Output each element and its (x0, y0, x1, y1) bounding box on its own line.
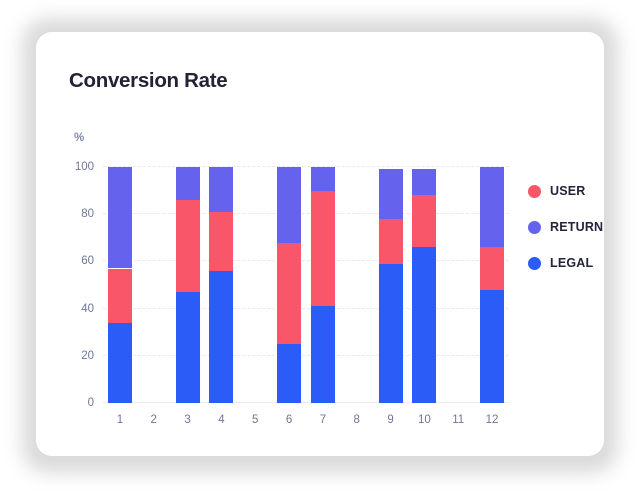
bar-segment-return[interactable] (108, 167, 132, 268)
page-title: Conversion Rate (69, 69, 227, 93)
bar-segment-return[interactable] (209, 167, 233, 212)
stacked-bar[interactable] (379, 169, 403, 403)
stacked-bar[interactable] (277, 167, 301, 403)
bar-slot[interactable]: 1 (103, 167, 137, 403)
y-axis-tick-label: 100 (75, 161, 94, 173)
stacked-bar[interactable] (480, 167, 504, 403)
bar-segment-return[interactable] (379, 169, 403, 219)
stacked-bar[interactable] (209, 167, 233, 403)
legend-item-label: LEGAL (550, 256, 593, 270)
legend-item-return[interactable]: RETURN (528, 220, 603, 234)
bar-segment-user[interactable] (379, 219, 403, 264)
bar-segment-legal[interactable] (412, 247, 436, 403)
legend-swatch-icon (528, 257, 541, 270)
bar-segment-return[interactable] (176, 167, 200, 200)
x-axis-tick-label: 6 (286, 414, 292, 426)
bar-segment-return[interactable] (277, 167, 301, 243)
chart-legend: USERRETURNLEGAL (528, 184, 603, 270)
bars-group: 123456789101112 (103, 167, 509, 403)
bar-slot[interactable]: 12 (475, 167, 509, 403)
bar-segment-user[interactable] (277, 243, 301, 344)
legend-item-legal[interactable]: LEGAL (528, 256, 603, 270)
stacked-bar[interactable] (311, 167, 335, 403)
bar-slot[interactable]: 3 (171, 167, 205, 403)
bar-segment-return[interactable] (311, 167, 335, 191)
y-axis-tick-label: 40 (81, 303, 94, 315)
y-axis-tick-label: 0 (88, 397, 94, 409)
bar-segment-legal[interactable] (108, 323, 132, 403)
x-axis-tick-label: 2 (151, 414, 157, 426)
screenshot-root: Conversion Rate % 020406080100 123456789… (0, 0, 640, 495)
x-axis-tick-label: 11 (452, 414, 464, 426)
bar-segment-user[interactable] (108, 269, 132, 323)
legend-swatch-icon (528, 221, 541, 234)
bar-segment-legal[interactable] (379, 264, 403, 403)
x-axis-tick-label: 1 (117, 414, 123, 426)
bar-segment-user[interactable] (209, 212, 233, 271)
bar-slot[interactable]: 4 (205, 167, 239, 403)
x-axis-tick-label: 4 (218, 414, 224, 426)
stacked-bar[interactable] (412, 169, 436, 403)
chart-plot-area: 020406080100 123456789101112 (103, 167, 509, 403)
bar-segment-user[interactable] (176, 200, 200, 292)
bar-slot[interactable]: 8 (340, 167, 374, 403)
bar-segment-legal[interactable] (277, 344, 301, 403)
conversion-rate-card: Conversion Rate % 020406080100 123456789… (36, 32, 604, 456)
x-axis-tick-label: 3 (184, 414, 190, 426)
bar-segment-legal[interactable] (311, 306, 335, 403)
x-axis-tick-label: 7 (320, 414, 326, 426)
x-axis-tick-label: 10 (418, 414, 431, 426)
stacked-bar[interactable] (108, 167, 132, 403)
bar-segment-return[interactable] (480, 167, 504, 247)
legend-item-user[interactable]: USER (528, 184, 603, 198)
bar-segment-legal[interactable] (176, 292, 200, 403)
bar-slot[interactable]: 7 (306, 167, 340, 403)
x-axis-tick-label: 5 (252, 414, 258, 426)
bar-segment-user[interactable] (412, 195, 436, 247)
bar-slot[interactable]: 11 (441, 167, 475, 403)
bar-slot[interactable]: 2 (137, 167, 171, 403)
bar-slot[interactable]: 9 (374, 167, 408, 403)
bar-segment-legal[interactable] (480, 290, 504, 403)
y-axis-tick-label: 20 (81, 350, 94, 362)
bar-slot[interactable]: 6 (272, 167, 306, 403)
legend-item-label: USER (550, 184, 586, 198)
y-axis-tick-label: 80 (81, 208, 94, 220)
bar-segment-user[interactable] (311, 191, 335, 307)
bar-segment-user[interactable] (480, 247, 504, 289)
stacked-bar[interactable] (176, 167, 200, 403)
bar-segment-return[interactable] (412, 169, 436, 195)
bar-slot[interactable]: 5 (238, 167, 272, 403)
legend-item-label: RETURN (550, 220, 603, 234)
bar-slot[interactable]: 10 (408, 167, 442, 403)
y-axis-unit-label: % (74, 132, 84, 144)
x-axis-tick-label: 8 (354, 414, 360, 426)
y-axis-tick-label: 60 (81, 255, 94, 267)
x-axis-tick-label: 12 (486, 414, 499, 426)
x-axis-tick-label: 9 (387, 414, 393, 426)
legend-swatch-icon (528, 185, 541, 198)
bar-segment-legal[interactable] (209, 271, 233, 403)
